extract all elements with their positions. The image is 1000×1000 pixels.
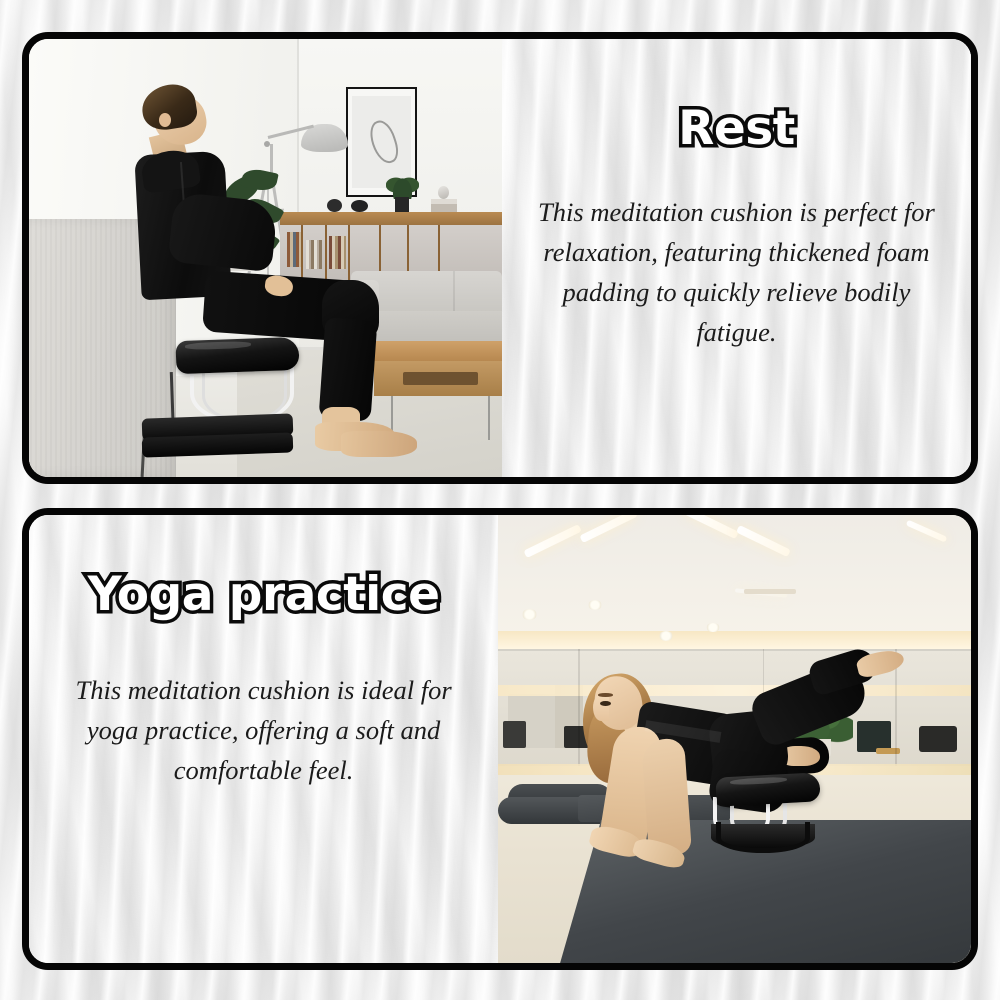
text-block-rest: Rest This meditation cushion is perfect … bbox=[502, 39, 971, 477]
grey-sofa-seam bbox=[453, 271, 455, 315]
cushion-base-ring bbox=[716, 822, 811, 853]
mirror-reflected-equipment bbox=[503, 721, 527, 748]
panel-heading-yoga-practice: Yoga practice bbox=[88, 571, 440, 618]
books bbox=[329, 236, 346, 269]
recessed-downlight bbox=[522, 609, 537, 620]
man-foot bbox=[341, 431, 417, 457]
book-stack bbox=[431, 199, 457, 212]
shelf-divider bbox=[348, 225, 350, 282]
mirror-light-glow bbox=[498, 685, 971, 696]
books bbox=[306, 240, 323, 268]
shelf-divider bbox=[301, 225, 303, 282]
books bbox=[287, 232, 301, 267]
panel-heading-rest: Rest bbox=[678, 105, 795, 152]
photo-rest bbox=[29, 39, 502, 477]
text-block-yoga: Yoga practice This meditation cushion is… bbox=[29, 515, 498, 963]
woman-eyebrow bbox=[598, 693, 612, 697]
feature-panel-yoga-practice: Yoga practice This meditation cushion is… bbox=[22, 508, 978, 970]
feature-panel-rest: Rest This meditation cushion is perfect … bbox=[22, 32, 978, 484]
recessed-downlight bbox=[588, 600, 602, 610]
decor-bowl bbox=[327, 199, 342, 212]
shelf-divider bbox=[325, 225, 327, 282]
coffee-table-top bbox=[360, 341, 502, 361]
coffee-table-leg bbox=[488, 396, 491, 440]
panel-body-rest: This meditation cushion is perfect for r… bbox=[535, 192, 938, 352]
mirror-seam bbox=[578, 649, 580, 765]
mirror-top-edge bbox=[498, 649, 971, 651]
woman-face bbox=[593, 694, 610, 721]
studio-equipment bbox=[919, 726, 957, 753]
decor-bowl bbox=[351, 200, 368, 212]
ceiling-vent bbox=[744, 589, 796, 594]
coffee-table-shelf bbox=[403, 372, 479, 385]
shelf-plant-pot bbox=[395, 197, 408, 212]
ceiling-cove-light bbox=[498, 631, 971, 649]
sideboard-top bbox=[280, 212, 502, 225]
panel-body-yoga-practice: This meditation cushion is ideal for yog… bbox=[62, 670, 465, 790]
photo-yoga-practice bbox=[498, 515, 971, 963]
shelf-plant bbox=[386, 168, 419, 199]
collage-stage: Rest This meditation cushion is perfect … bbox=[0, 0, 1000, 1000]
